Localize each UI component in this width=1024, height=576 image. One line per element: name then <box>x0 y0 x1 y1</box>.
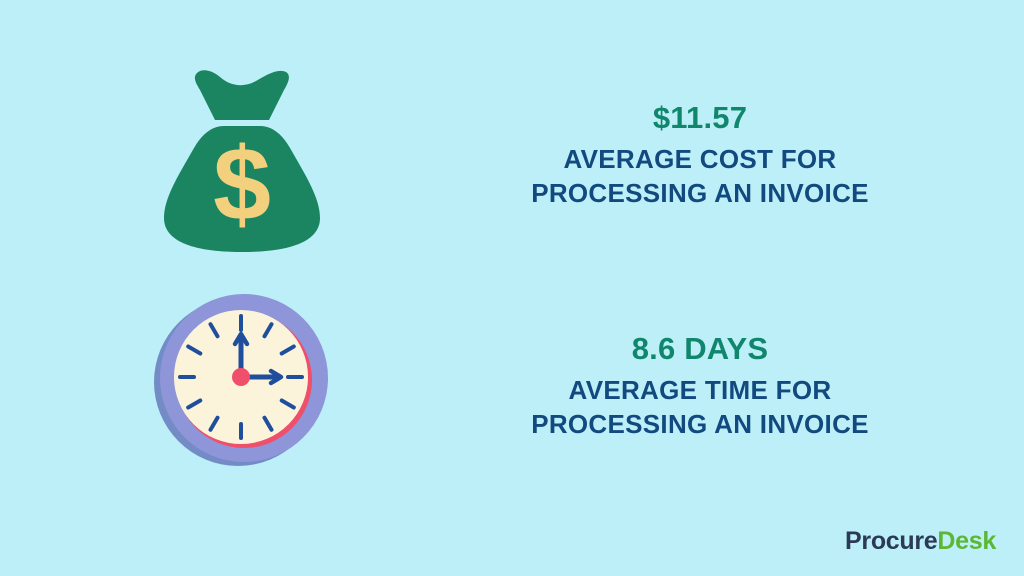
brand-logo-primary-text: Procure <box>845 527 937 555</box>
stat-label-cost-line1: AVERAGE COST FOR <box>480 142 920 176</box>
stat-value-cost: $11.57 <box>480 101 920 136</box>
brand-logo-accent-text: Desk <box>937 527 996 555</box>
stat-row-time: 8.6 DAYS AVERAGE TIME FOR PROCESSING AN … <box>0 282 1024 492</box>
icon-cell-cost: $ <box>0 46 480 266</box>
stat-value-time: 8.6 DAYS <box>480 332 920 367</box>
clock-center-dot <box>232 368 250 386</box>
brand-logo[interactable]: ProcureDesk <box>845 527 996 556</box>
clock-icon <box>152 290 330 468</box>
stat-row-cost: $ $11.57 AVERAGE COST FOR PROCESSING AN … <box>0 46 1024 266</box>
stat-label-cost-line2: PROCESSING AN INVOICE <box>480 176 920 210</box>
stat-text-cost: $11.57 AVERAGE COST FOR PROCESSING AN IN… <box>480 101 920 210</box>
stat-label-time-line1: AVERAGE TIME FOR <box>480 373 920 407</box>
money-bag-tie-shape <box>195 70 289 120</box>
infographic-canvas: $ $11.57 AVERAGE COST FOR PROCESSING AN … <box>0 0 1024 576</box>
stat-label-time-line2: PROCESSING AN INVOICE <box>480 407 920 441</box>
stat-text-time: 8.6 DAYS AVERAGE TIME FOR PROCESSING AN … <box>480 332 920 441</box>
money-bag-icon: $ <box>160 68 324 254</box>
dollar-sign-glyph: $ <box>213 127 271 243</box>
icon-cell-time <box>0 282 480 492</box>
